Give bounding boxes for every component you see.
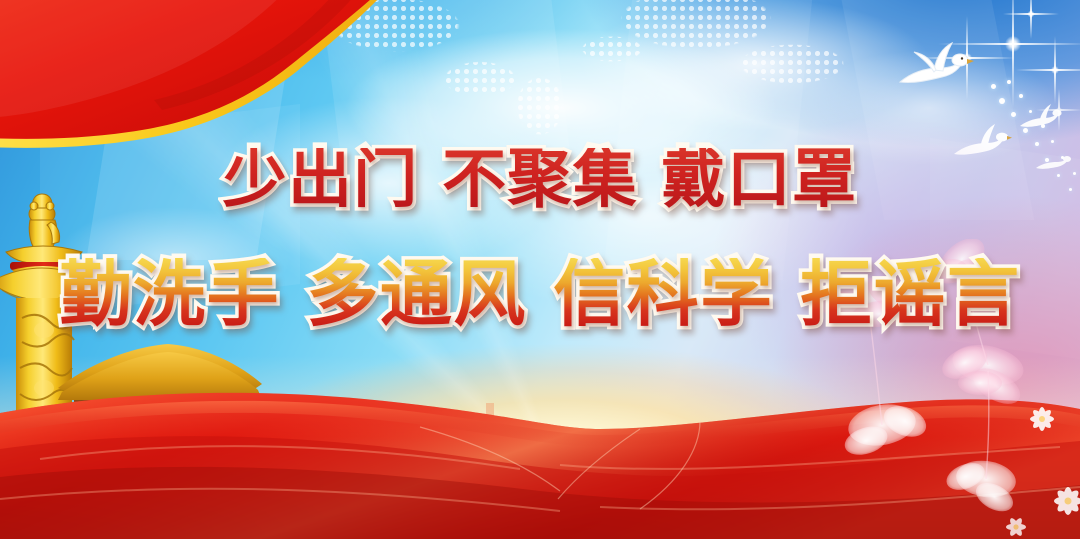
dotted-world-map-icon bbox=[300, 0, 900, 136]
dove-icon bbox=[890, 38, 976, 98]
slogan-line-2-text: 勤洗手 多通风 信科学 拒谣言 bbox=[60, 258, 1021, 330]
poster-canvas: 少出门 不聚集 戴口罩 少出门 不聚集 戴口罩 勤洗手 多通风 信科学 拒谣言 … bbox=[0, 0, 1080, 539]
red-silk-ribbon bbox=[0, 309, 1080, 539]
slogan-line-1-text: 少出门 不聚集 戴口罩 bbox=[223, 148, 858, 212]
slogan-line-1: 少出门 不聚集 戴口罩 少出门 不聚集 戴口罩 bbox=[0, 148, 1080, 212]
slogan-line-2: 勤洗手 多通风 信科学 拒谣言 勤洗手 多通风 信科学 拒谣言 bbox=[0, 258, 1080, 330]
city-skyline-silhouette bbox=[0, 349, 1080, 539]
dove-icon bbox=[1016, 102, 1064, 136]
grass-strip bbox=[0, 481, 350, 539]
grass-tufts bbox=[0, 487, 360, 539]
huabiao-pillar bbox=[0, 178, 116, 508]
